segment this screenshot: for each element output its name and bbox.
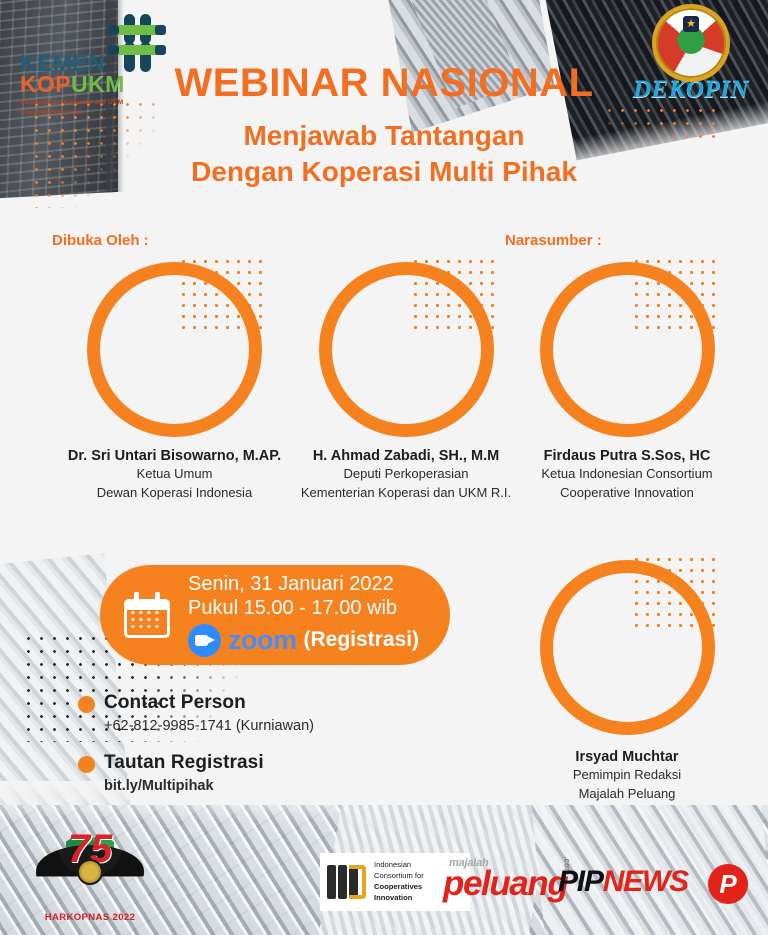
avatar-ring-3 [540, 262, 715, 437]
avatar-2 [319, 262, 494, 437]
harkopnas-seal-icon [77, 859, 103, 885]
avatar-ring-1 [87, 262, 262, 437]
footer-logo-strip: 75 HARKOPNAS 2022 Indonesian Consortium … [0, 820, 768, 935]
contact-person-title: Contact Person [104, 692, 314, 714]
icci-line4: Innovation [374, 893, 412, 902]
pipnews-news-text: NEWS [603, 865, 688, 898]
person-role-line2-1: Dewan Koperasi Indonesia [52, 484, 297, 502]
label-opened-by: Dibuka Oleh : [52, 232, 149, 249]
person-card-2: H. Ahmad Zabadi, SH., M.M Deputi Perkope… [282, 262, 530, 502]
avatar-3 [540, 262, 715, 437]
datetime-panel: Senin, 31 Januari 2022 Pukul 15.00 - 17.… [100, 565, 450, 665]
icci-line1: Indonesian [374, 860, 424, 871]
poster-subtitle-line2: Dengan Koperasi Multi Pihak [0, 154, 768, 190]
calendar-icon [124, 592, 170, 638]
harkopnas-label: HARKOPNAS 2022 [30, 912, 150, 923]
kemen-subtitle-1: Kementerian Koperasi dan UKM [20, 98, 125, 108]
avatar-ring-4 [540, 560, 715, 735]
contact-person-value[interactable]: +62-812-9985-1741 (Kurniawan) [104, 718, 314, 734]
dekopin-logo: DEKOPIN [632, 4, 750, 114]
registration-link-row: Tautan Registrasi bit.ly/Multipihak [104, 752, 314, 794]
person-card-3: Firdaus Putra S.Sos, HC Ketua Indonesian… [512, 262, 742, 502]
registration-link-title: Tautan Registrasi [104, 752, 314, 774]
pipnews-logo: PIPNEWS P [558, 863, 748, 911]
bullet-icon-link [78, 756, 95, 773]
person-role-line2-4: Majalah Peluang [512, 785, 742, 803]
person-name-4: Irsyad Muchtar [512, 749, 742, 765]
icci-wordmark: Indonesian Consortium for Cooperatives I… [374, 860, 424, 903]
bullet-icon-contact [78, 696, 95, 713]
person-name-2: H. Ahmad Zabadi, SH., M.M [282, 448, 530, 464]
dekopin-emblem-icon [652, 4, 730, 82]
icci-line3: Cooperatives [374, 882, 422, 891]
peluang-wordmark: peluang [443, 866, 567, 901]
person-role-line1-2: Deputi Perkoperasian [282, 465, 530, 483]
person-role-line1-3: Ketua Indonesian Consortium [512, 465, 742, 483]
pipnews-pip-text: PIP [558, 865, 603, 898]
kemen-subtitle-2: Republik Indonesia [20, 108, 125, 118]
majalah-peluang-logo: majalah peluang .com [443, 857, 568, 913]
zoom-wordmark: zoom [228, 627, 297, 654]
zoom-camera-icon [188, 624, 221, 657]
pipnews-badge-icon: P [708, 864, 748, 904]
icci-mark-icon [327, 862, 367, 902]
harkopnas-logo: 75 HARKOPNAS 2022 [30, 827, 150, 927]
person-role-line2-3: Cooperative Innovation [512, 484, 742, 502]
icci-line2: Consortium for [374, 871, 424, 882]
avatar-1 [87, 262, 262, 437]
event-time: Pukul 15.00 - 17.00 wib [188, 597, 419, 621]
kemenkopukm-wordmark: KEMEN KOPUKM Kementerian Koperasi dan UK… [20, 52, 125, 117]
person-role-line1-4: Pemimpin Redaksi [512, 766, 742, 784]
webinar-poster: KEMEN KOPUKM Kementerian Koperasi dan UK… [0, 0, 768, 935]
event-date: Senin, 31 Januari 2022 [188, 573, 419, 597]
kemen-line2-ukm: UKM [71, 71, 125, 97]
registration-note: (Registrasi) [304, 628, 420, 653]
label-speakers: Narasumber : [505, 232, 602, 249]
person-name-3: Firdaus Putra S.Sos, HC [512, 448, 742, 464]
avatar-ring-2 [319, 262, 494, 437]
contact-person-row: Contact Person +62-812-9985-1741 (Kurnia… [104, 692, 314, 734]
kemenkopukm-logo: KEMEN KOPUKM Kementerian Koperasi dan UK… [18, 12, 178, 112]
person-card-1: Dr. Sri Untari Bisowarno, M.AP. Ketua Um… [52, 262, 297, 502]
registration-link-value[interactable]: bit.ly/Multipihak [104, 778, 314, 794]
person-role-line2-2: Kementerian Koperasi dan UKM R.I. [282, 484, 530, 502]
poster-subtitle-line1: Menjawab Tantangan [0, 118, 768, 154]
contact-block: Contact Person +62-812-9985-1741 (Kurnia… [104, 692, 314, 812]
person-name-1: Dr. Sri Untari Bisowarno, M.AP. [52, 448, 297, 464]
datetime-text: Senin, 31 Januari 2022 Pukul 15.00 - 17.… [188, 573, 419, 656]
person-role-line1-1: Ketua Umum [52, 465, 297, 483]
person-card-4: Irsyad Muchtar Pemimpin Redaksi Majalah … [512, 560, 742, 803]
kemen-line2-kop: KOP [20, 71, 71, 97]
avatar-4 [540, 560, 715, 735]
